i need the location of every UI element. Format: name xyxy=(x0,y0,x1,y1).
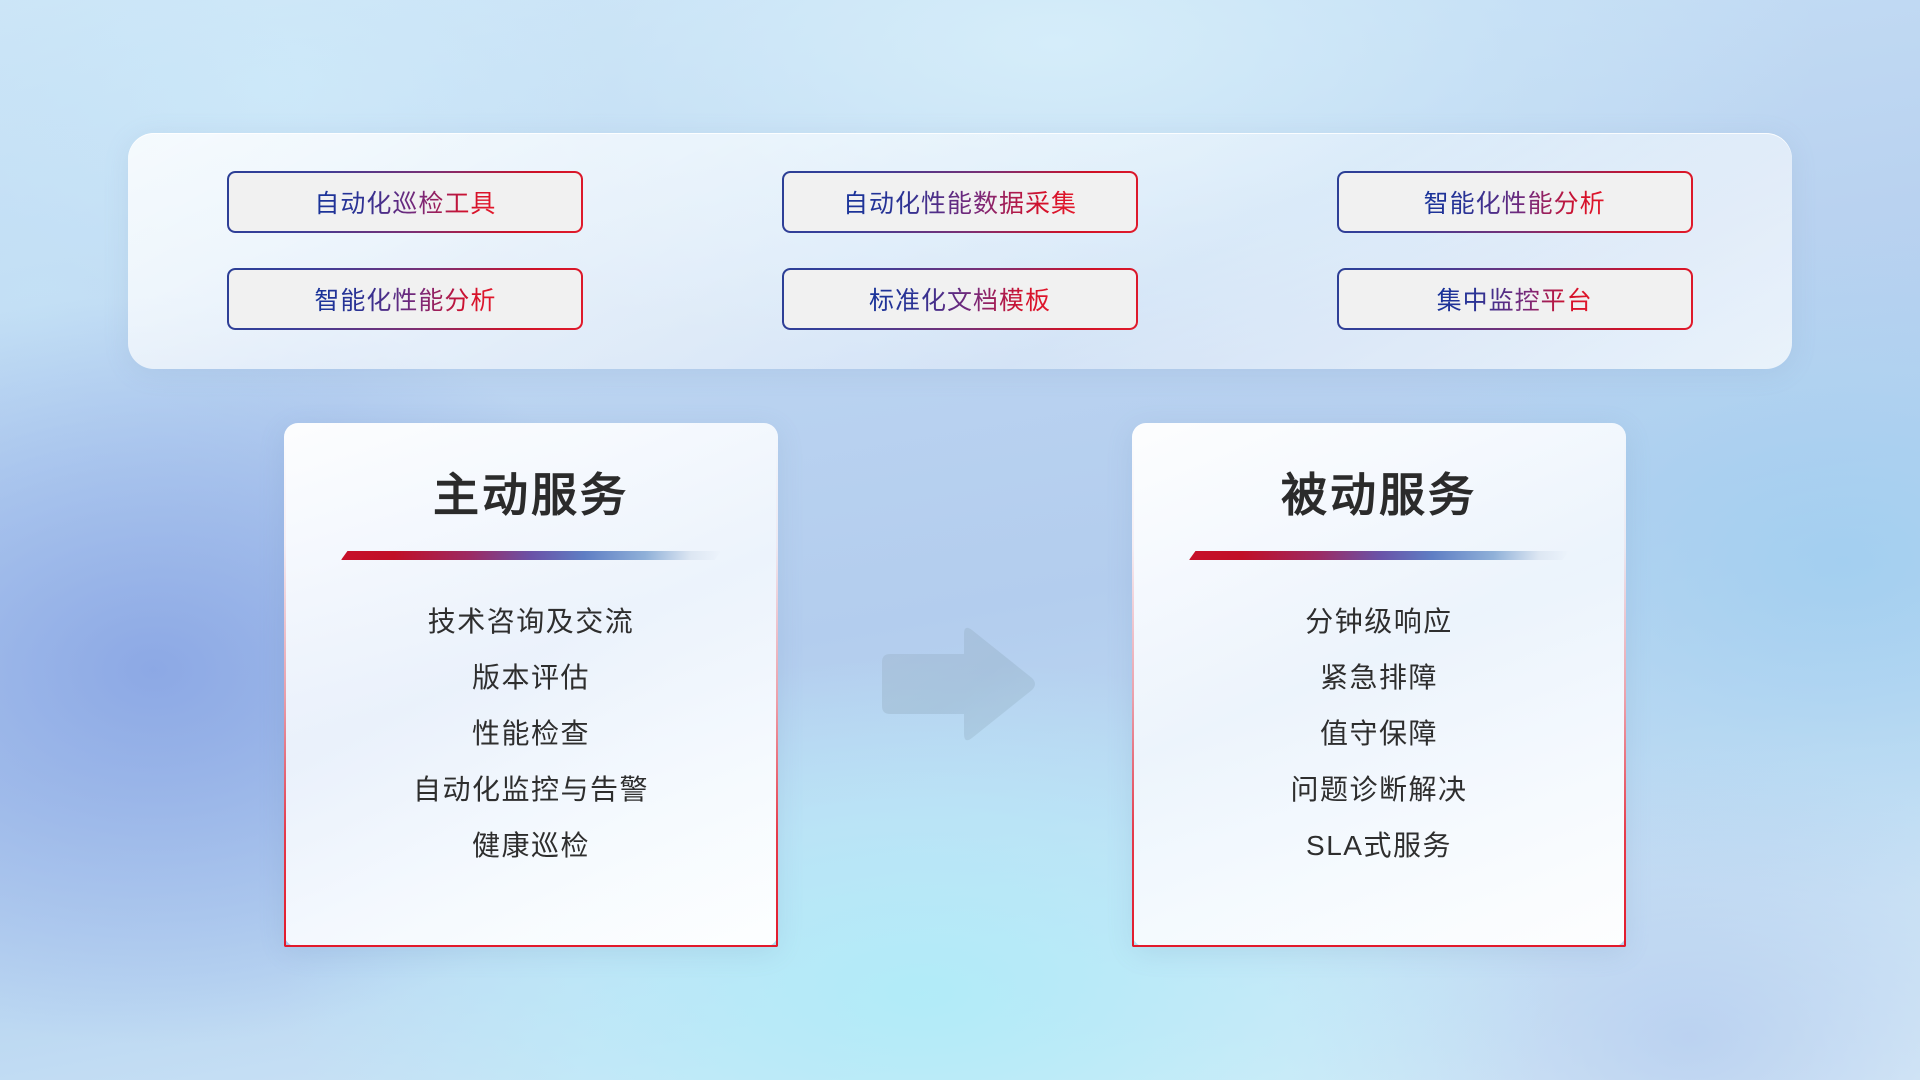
list-item: 版本评估 xyxy=(284,650,778,706)
list-item: 紧急排障 xyxy=(1132,650,1626,706)
capability-panel: 自动化巡检工具 自动化性能数据采集 智能化性能分析 智能化性能分析 标准化文档模… xyxy=(128,133,1792,369)
capability-pill-label: 标准化文档模板 xyxy=(869,281,1051,317)
list-item: 分钟级响应 xyxy=(1132,594,1626,650)
card-title-underline xyxy=(341,551,721,560)
card-title: 被动服务 xyxy=(1132,423,1626,525)
list-item: 性能检查 xyxy=(284,706,778,762)
card-proactive-service: 主动服务 技术咨询及交流 版本评估 性能检查 自动化监控与告警 健康巡检 xyxy=(284,423,778,947)
list-item: SLA式服务 xyxy=(1132,818,1626,874)
card-title: 主动服务 xyxy=(284,423,778,525)
card-service-list: 分钟级响应 紧急排障 值守保障 问题诊断解决 SLA式服务 xyxy=(1132,560,1626,874)
capability-pill-label: 自动化巡检工具 xyxy=(314,184,496,220)
list-item: 值守保障 xyxy=(1132,706,1626,762)
slide-canvas: 自动化巡检工具 自动化性能数据采集 智能化性能分析 智能化性能分析 标准化文档模… xyxy=(0,0,1920,1080)
card-service-list: 技术咨询及交流 版本评估 性能检查 自动化监控与告警 健康巡检 xyxy=(284,560,778,874)
capability-pill-5[interactable]: 标准化文档模板 xyxy=(782,268,1138,330)
capability-pill-label: 自动化性能数据采集 xyxy=(843,184,1077,220)
list-item: 自动化监控与告警 xyxy=(284,762,778,818)
card-reactive-service: 被动服务 分钟级响应 紧急排障 值守保障 问题诊断解决 SLA式服务 xyxy=(1132,423,1626,947)
capability-pill-1[interactable]: 自动化巡检工具 xyxy=(227,171,583,233)
card-bottom-border xyxy=(1132,945,1626,947)
capability-pill-4[interactable]: 智能化性能分析 xyxy=(227,268,583,330)
card-bottom-border xyxy=(284,945,778,947)
list-item: 问题诊断解决 xyxy=(1132,762,1626,818)
capability-pill-label: 集中监控平台 xyxy=(1437,281,1593,317)
capability-pill-2[interactable]: 自动化性能数据采集 xyxy=(782,171,1138,233)
capability-pill-label: 智能化性能分析 xyxy=(314,281,496,317)
capability-pill-6[interactable]: 集中监控平台 xyxy=(1337,268,1693,330)
list-item: 健康巡检 xyxy=(284,818,778,874)
list-item: 技术咨询及交流 xyxy=(284,594,778,650)
card-title-underline xyxy=(1189,551,1569,560)
capability-pill-3[interactable]: 智能化性能分析 xyxy=(1337,171,1693,233)
flow-arrow-right-icon xyxy=(878,622,1038,746)
capability-pill-label: 智能化性能分析 xyxy=(1424,184,1606,220)
